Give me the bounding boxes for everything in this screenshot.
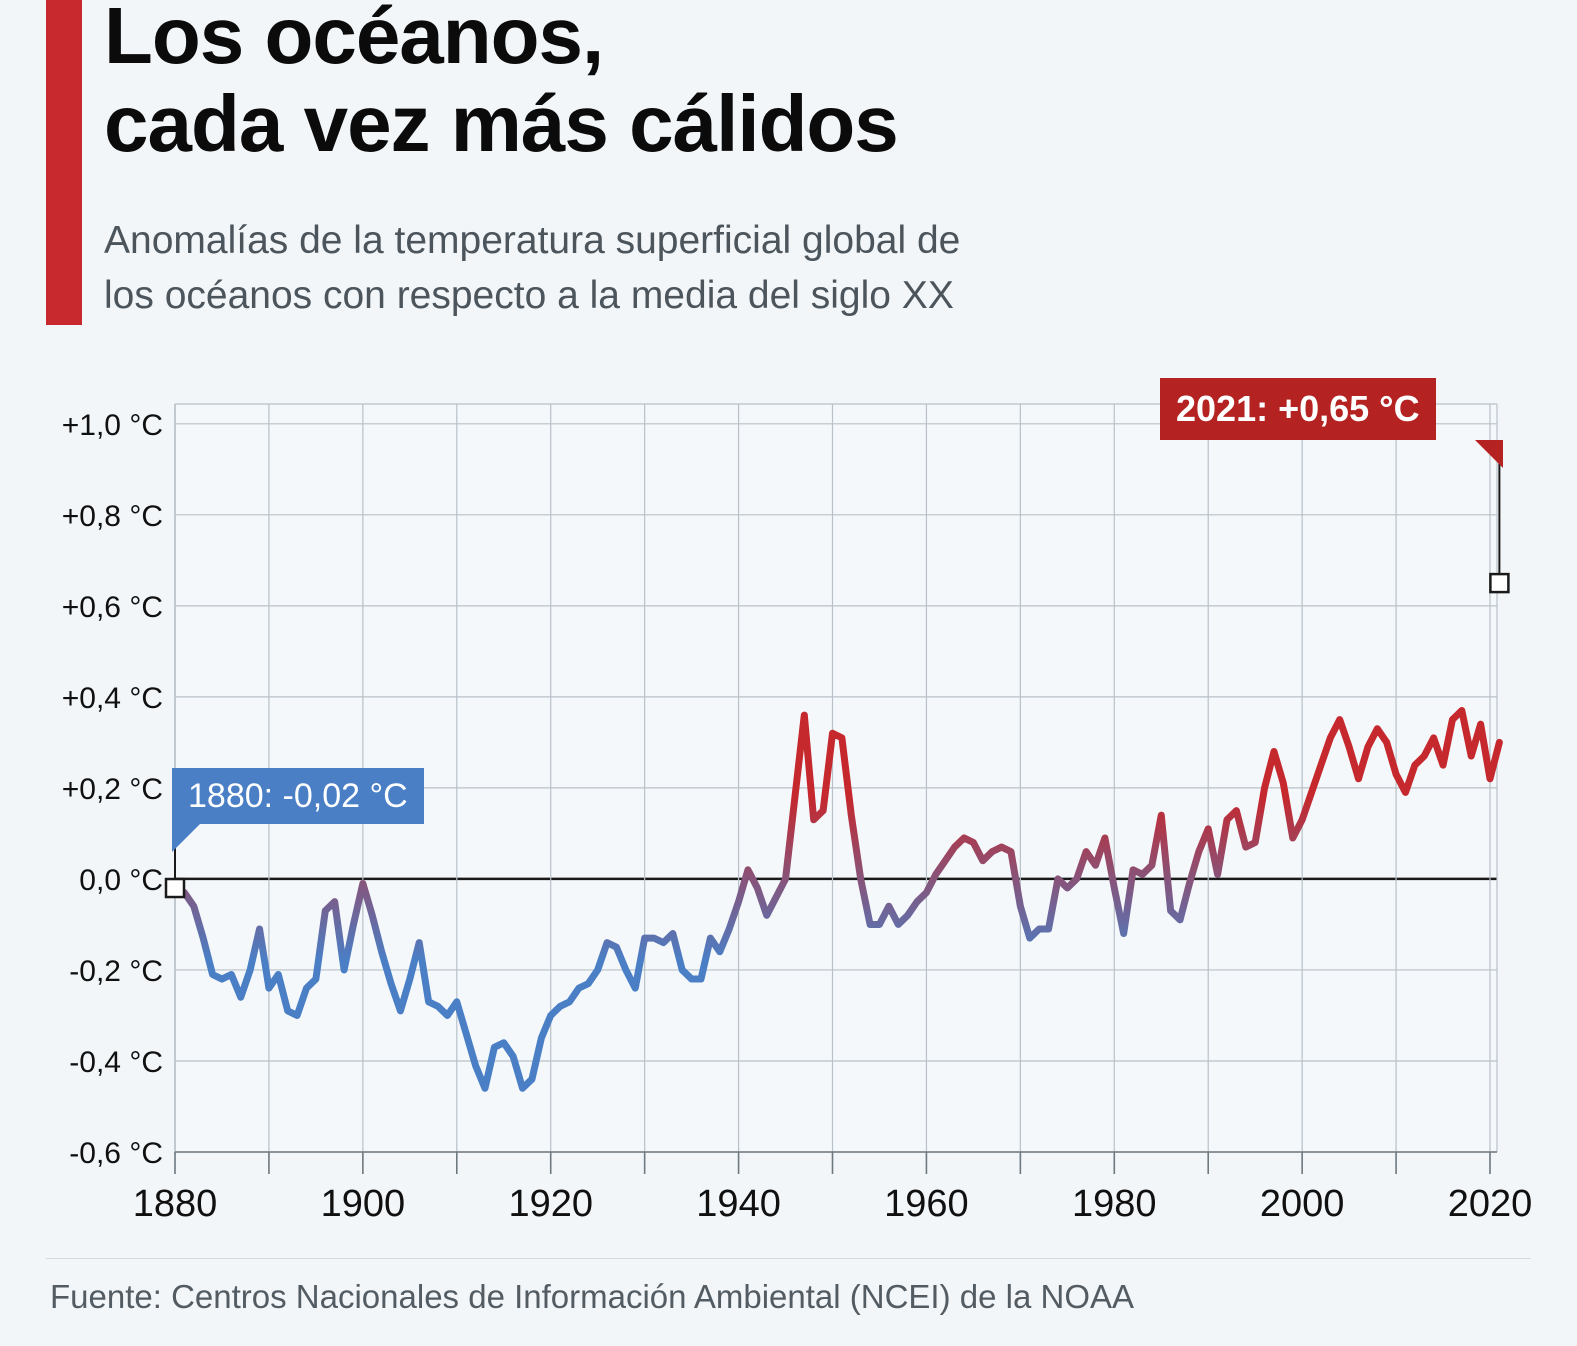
x-axis-tick-label: 1880 (133, 1183, 218, 1225)
marker-start (166, 879, 184, 897)
footer-divider (46, 1258, 1531, 1259)
x-axis-tick-label: 1960 (884, 1183, 969, 1225)
y-axis-tick-label: -0,4 °C (69, 1046, 163, 1079)
callout-start-value: 1880: -0,02 °C (172, 768, 424, 824)
callout-end-value: 2021: +0,65 °C (1160, 378, 1436, 440)
x-axis-tick-label: 2020 (1448, 1183, 1533, 1225)
y-axis-tick-label: -0,6 °C (69, 1137, 163, 1170)
x-axis-tick-label: 1920 (508, 1183, 593, 1225)
callout-end-tail (1475, 440, 1503, 468)
y-axis-tick-label: 0,0 °C (79, 864, 163, 897)
y-axis-tick-label: +1,0 °C (62, 409, 163, 442)
chart-container: +1,0 °C+0,8 °C+0,6 °C+0,4 °C+0,2 °C0,0 °… (0, 0, 1577, 1260)
x-axis-tick-label: 1940 (696, 1183, 781, 1225)
callout-start-tail (172, 824, 200, 852)
y-axis-tick-label: +0,6 °C (62, 591, 163, 624)
y-axis-tick-label: +0,8 °C (62, 500, 163, 533)
y-axis-tick-label: -0,2 °C (69, 955, 163, 988)
temperature-anomaly-line-chart: +1,0 °C+0,8 °C+0,6 °C+0,4 °C+0,2 °C0,0 °… (0, 0, 1577, 1260)
y-axis-tick-label: +0,2 °C (62, 773, 163, 806)
infographic-root: Los océanos, cada vez más cálidos Anomal… (0, 0, 1577, 1346)
x-axis-tick-label: 2000 (1260, 1183, 1345, 1225)
y-axis-tick-label: +0,4 °C (62, 682, 163, 715)
source-note: Fuente: Centros Nacionales de Informació… (50, 1278, 1134, 1316)
marker-end (1490, 574, 1508, 592)
x-axis-tick-label: 1900 (321, 1183, 406, 1225)
x-axis-tick-label: 1980 (1072, 1183, 1157, 1225)
